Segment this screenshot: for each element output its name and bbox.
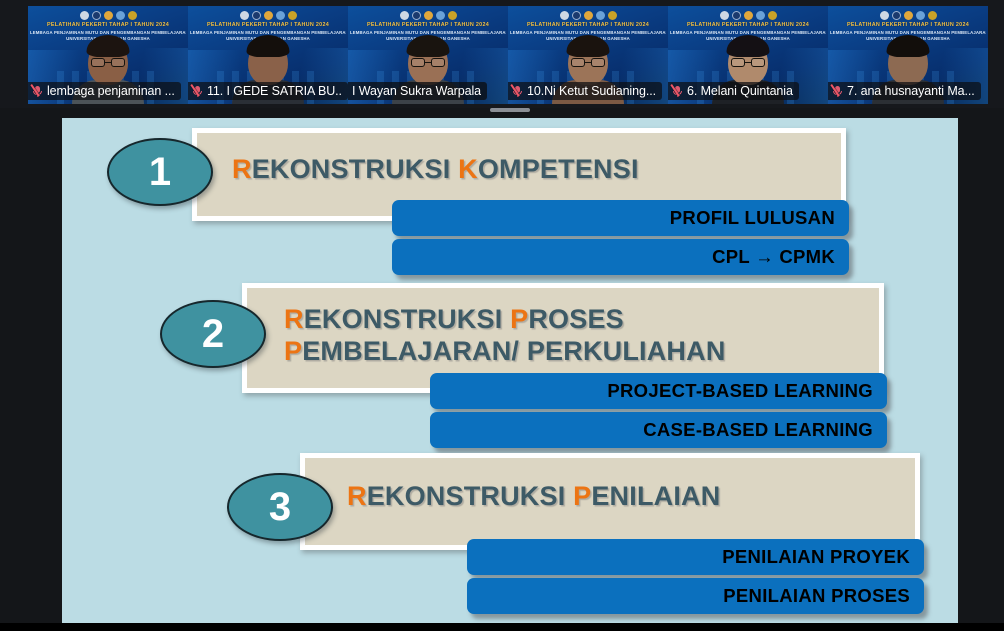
participant-name-label: 11. I GEDE SATRIA BU... (207, 84, 342, 98)
title-text: OMPETENSI (478, 154, 639, 184)
logo-icon (756, 11, 765, 20)
institution-logos (28, 11, 188, 20)
logo-icon (436, 11, 445, 20)
person-hair (567, 35, 610, 57)
logo-icon (720, 11, 729, 20)
glasses-icon (571, 58, 605, 67)
logo-icon (264, 11, 273, 20)
person-head (888, 38, 928, 85)
person-head (248, 38, 288, 85)
person-hair (247, 35, 290, 57)
participant-name-label: 6. Melani Quintania (687, 84, 793, 98)
logo-icon (904, 11, 913, 20)
logo-icon (732, 11, 741, 20)
section-2-bar-2[interactable]: CASE-BASED LEARNING (430, 412, 887, 448)
logo-icon (892, 11, 901, 20)
logo-icon (424, 11, 433, 20)
section-title-1: REKONSTRUKSI KOMPETENSI (232, 154, 832, 186)
logo-icon (572, 11, 581, 20)
section-badge-3: 3 (227, 473, 333, 541)
person-hair (887, 35, 930, 57)
title-accent-letter: P (284, 336, 302, 366)
participant-thumbnail[interactable]: PELATIHAN PEKERTI TAHAP I TAHUN 2024LEMB… (828, 6, 988, 104)
title-text: ENILAIAN (591, 481, 720, 511)
person-hair (87, 35, 130, 57)
person-head (568, 38, 608, 85)
zoom-meeting-window: PELATIHAN PEKERTI TAHAP I TAHUN 2024LEMB… (0, 0, 1004, 631)
microphone-muted-icon[interactable] (192, 85, 203, 98)
microphone-muted-icon[interactable] (32, 85, 43, 98)
title-text: ROSES (528, 304, 624, 334)
bar-label: CASE-BASED LEARNING (643, 419, 887, 441)
logo-icon (608, 11, 617, 20)
section-1-bar-2[interactable]: CPL → CPMK (392, 239, 849, 275)
title-text: EKONSTRUKSI (304, 304, 510, 334)
person-hair (407, 35, 450, 57)
person-head (408, 38, 448, 85)
participant-name-label: I Wayan Sukra Warpala (352, 84, 481, 98)
title-text: EKONSTRUKSI (367, 481, 573, 511)
bar-label: PENILAIAN PROYEK (722, 546, 924, 568)
logo-icon (288, 11, 297, 20)
logo-icon (916, 11, 925, 20)
title-accent-letter: R (347, 481, 367, 511)
virtual-background-title: PELATIHAN PEKERTI TAHAP I TAHUN 2024 (352, 22, 504, 28)
participant-thumbnail[interactable]: PELATIHAN PEKERTI TAHAP I TAHUN 2024LEMB… (668, 6, 828, 104)
shared-screen-slide: REKONSTRUKSI KOMPETENSI 1 PROFIL LULUSAN… (62, 118, 958, 623)
logo-icon (116, 11, 125, 20)
logo-icon (400, 11, 409, 20)
institution-logos (828, 11, 988, 20)
bar-label: PROJECT-BASED LEARNING (607, 380, 887, 402)
bottom-black-bar (0, 623, 1004, 631)
microphone-muted-icon[interactable] (672, 85, 683, 98)
logo-icon (128, 11, 137, 20)
logo-icon (412, 11, 421, 20)
section-title-3: REKONSTRUKSI PENILAIAN (347, 481, 907, 513)
logo-icon (104, 11, 113, 20)
section-badge-1: 1 (107, 138, 213, 206)
bar-label: CPL → CPMK (712, 246, 849, 268)
institution-logos (188, 11, 348, 20)
logo-icon (92, 11, 101, 20)
title-accent-letter: R (232, 154, 252, 184)
title-accent-letter: P (510, 304, 528, 334)
glasses-icon (731, 58, 765, 67)
participant-name-badge: lembaga penjaminan ... (28, 82, 181, 100)
virtual-background-title: PELATIHAN PEKERTI TAHAP I TAHUN 2024 (832, 22, 984, 28)
section-3-bar-1[interactable]: PENILAIAN PROYEK (467, 539, 924, 575)
participant-name-badge: 6. Melani Quintania (668, 82, 799, 100)
bar-label: PENILAIAN PROSES (723, 585, 924, 607)
person-hair (727, 35, 770, 57)
participant-name-label: 10.Ni Ketut Sudianing... (527, 84, 656, 98)
participant-thumbnail-strip[interactable]: PELATIHAN PEKERTI TAHAP I TAHUN 2024LEMB… (0, 0, 1004, 108)
glasses-icon (91, 58, 125, 67)
participant-thumbnail[interactable]: PELATIHAN PEKERTI TAHAP I TAHUN 2024LEMB… (348, 6, 508, 104)
drag-handle-icon[interactable] (490, 108, 530, 112)
person-head (728, 38, 768, 85)
logo-icon (880, 11, 889, 20)
logo-icon (252, 11, 261, 20)
participant-name-badge: 10.Ni Ketut Sudianing... (508, 82, 662, 100)
virtual-background-title: PELATIHAN PEKERTI TAHAP I TAHUN 2024 (672, 22, 824, 28)
participant-name-badge: 7. ana husnayanti Ma... (828, 82, 981, 100)
participant-thumbnail[interactable]: PELATIHAN PEKERTI TAHAP I TAHUN 2024LEMB… (508, 6, 668, 104)
title-accent-letter: R (284, 304, 304, 334)
microphone-muted-icon[interactable] (832, 85, 843, 98)
section-badge-2: 2 (160, 300, 266, 368)
logo-icon (596, 11, 605, 20)
microphone-muted-icon[interactable] (512, 85, 523, 98)
participant-thumbnail[interactable]: PELATIHAN PEKERTI TAHAP I TAHUN 2024LEMB… (28, 6, 188, 104)
virtual-background-title: PELATIHAN PEKERTI TAHAP I TAHUN 2024 (512, 22, 664, 28)
bar-label: PROFIL LULUSAN (670, 207, 849, 229)
title-accent-letter: P (573, 481, 591, 511)
title-text: EMBELAJARAN/ PERKULIAHAN (302, 336, 725, 366)
title-text: EKONSTRUKSI (252, 154, 458, 184)
section-title-2: REKONSTRUKSI PROSES PEMBELAJARAN/ PERKUL… (284, 304, 864, 368)
section-3-bar-2[interactable]: PENILAIAN PROSES (467, 578, 924, 614)
participant-name-label: 7. ana husnayanti Ma... (847, 84, 975, 98)
section-1-bar-1[interactable]: PROFIL LULUSAN (392, 200, 849, 236)
logo-icon (80, 11, 89, 20)
logo-icon (584, 11, 593, 20)
virtual-background-title: PELATIHAN PEKERTI TAHAP I TAHUN 2024 (32, 22, 184, 28)
title-accent-letter: K (458, 154, 478, 184)
logo-icon (276, 11, 285, 20)
logo-icon (560, 11, 569, 20)
virtual-background-title: PELATIHAN PEKERTI TAHAP I TAHUN 2024 (192, 22, 344, 28)
logo-icon (448, 11, 457, 20)
participant-name-label: lembaga penjaminan ... (47, 84, 175, 98)
logo-icon (744, 11, 753, 20)
section-2-bar-1[interactable]: PROJECT-BASED LEARNING (430, 373, 887, 409)
glasses-icon (411, 58, 445, 67)
logo-icon (240, 11, 249, 20)
person-head (88, 38, 128, 85)
logo-icon (928, 11, 937, 20)
institution-logos (348, 11, 508, 20)
institution-logos (508, 11, 668, 20)
participant-name-badge: 11. I GEDE SATRIA BU... (188, 82, 348, 100)
logo-icon (768, 11, 777, 20)
participant-thumbnail[interactable]: PELATIHAN PEKERTI TAHAP I TAHUN 2024LEMB… (188, 6, 348, 104)
participant-name-badge: I Wayan Sukra Warpala (348, 82, 487, 100)
institution-logos (668, 11, 828, 20)
